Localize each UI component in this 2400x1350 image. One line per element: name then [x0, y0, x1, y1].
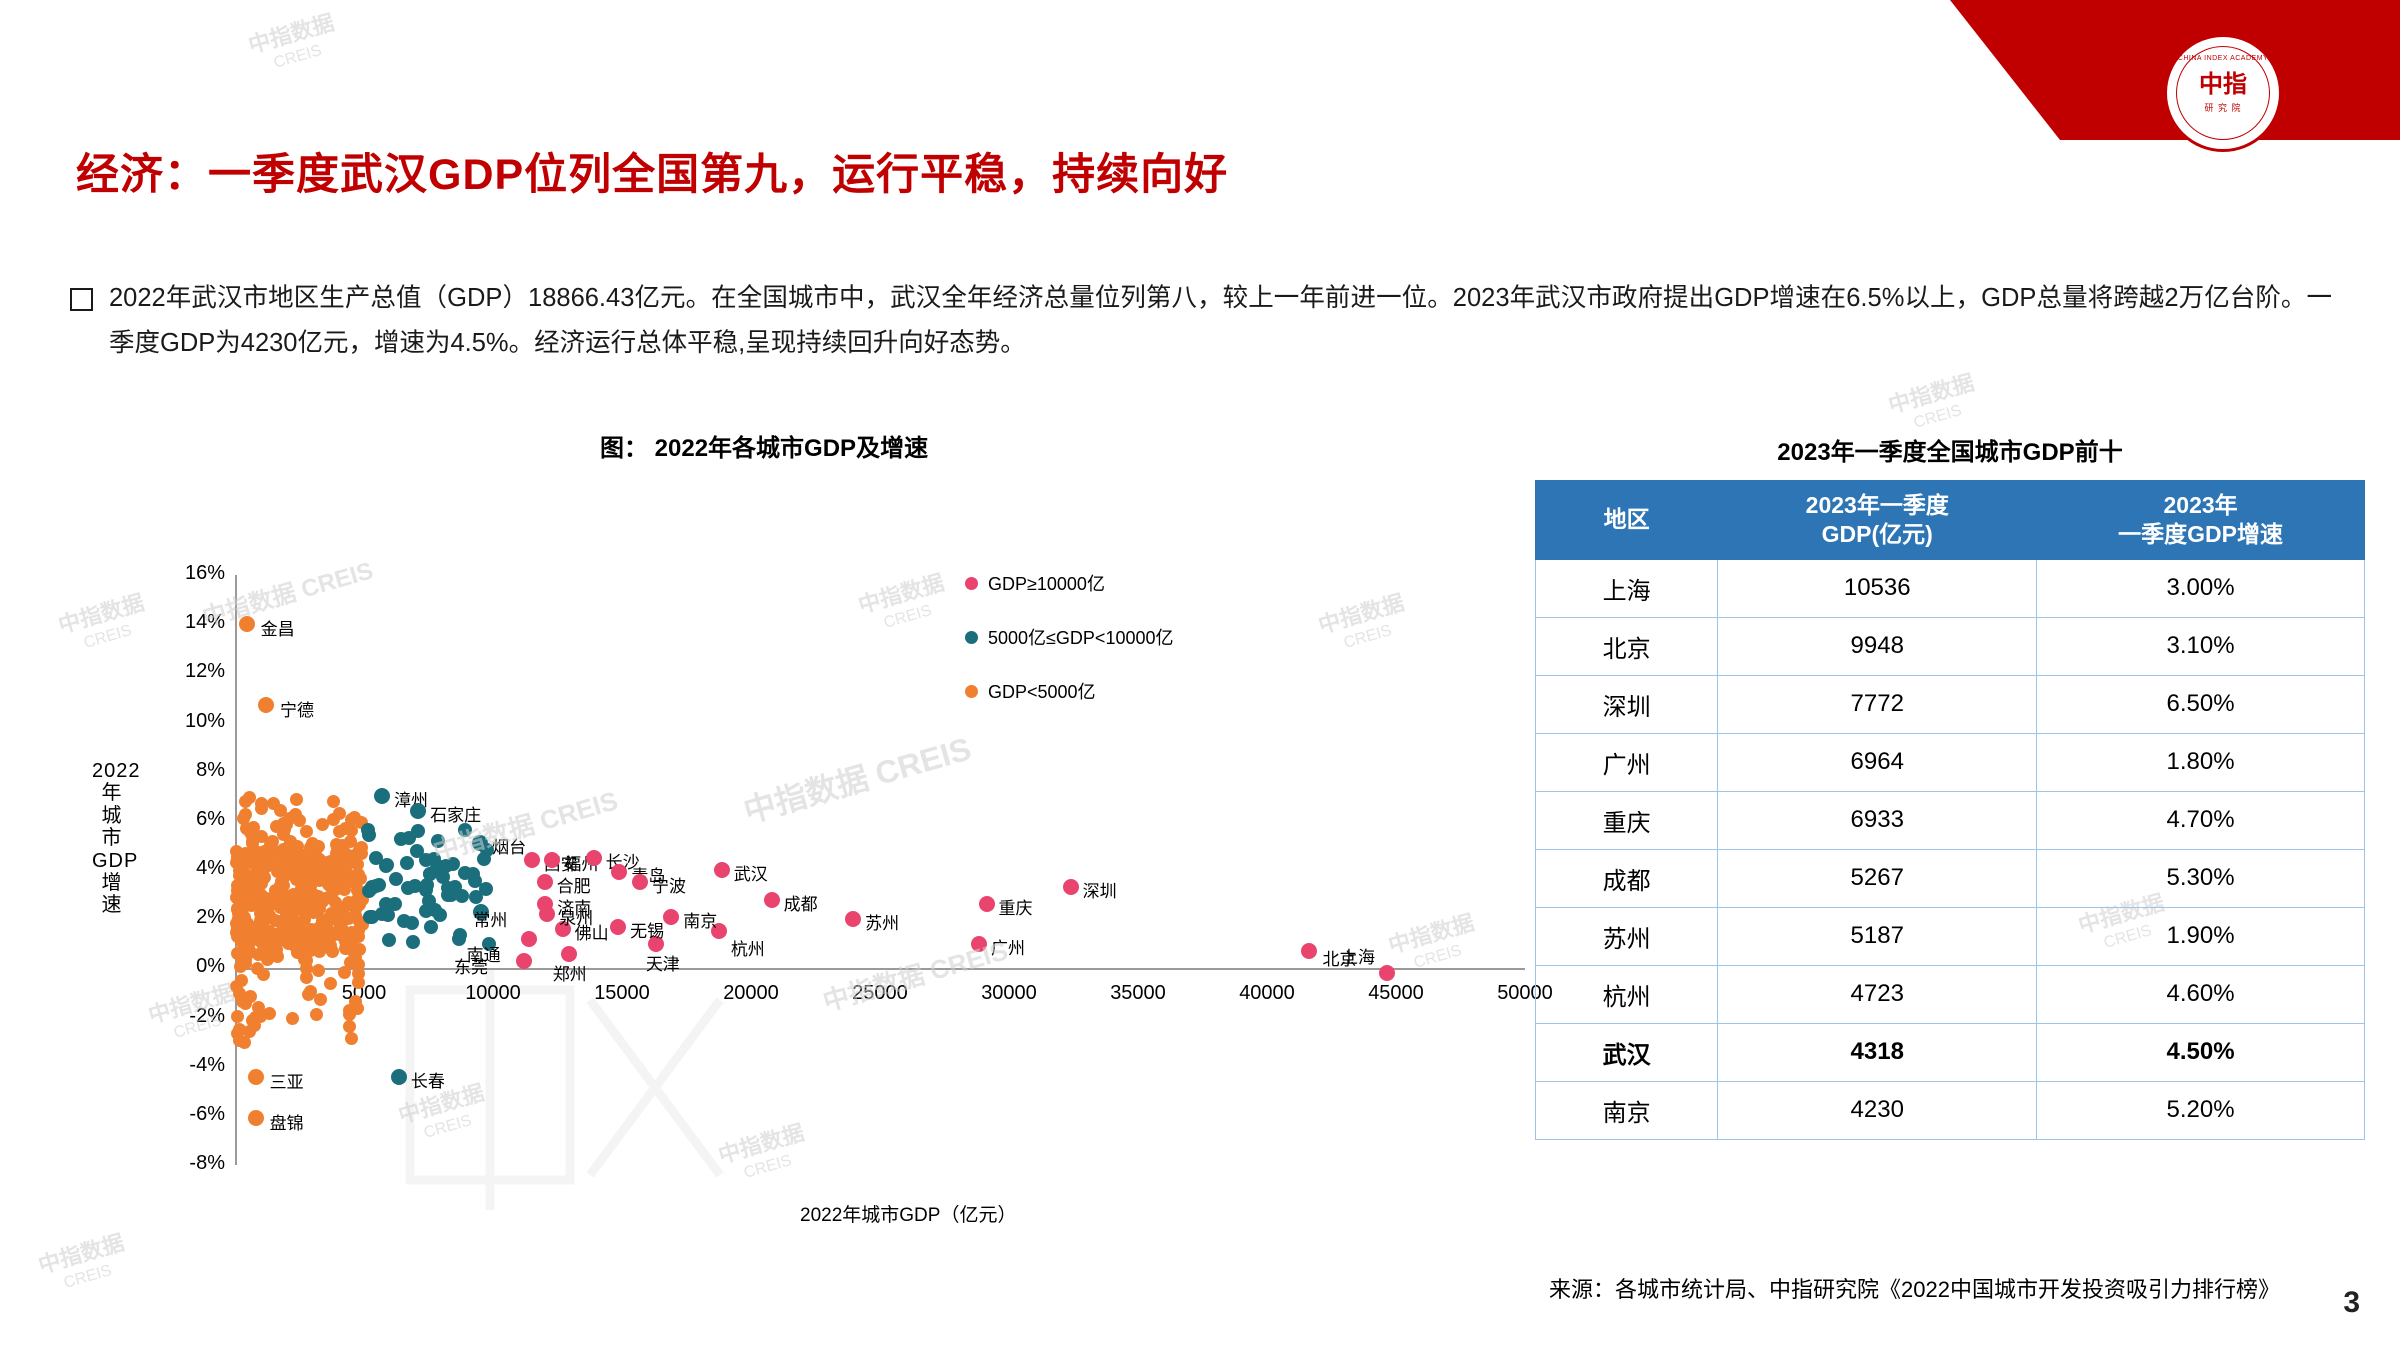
- y-axis-label: 2022年城市GDP增速: [92, 760, 132, 917]
- table-cell-region: 杭州: [1536, 965, 1718, 1023]
- table-cell-region: 武汉: [1536, 1023, 1718, 1081]
- data-point-三亚: [248, 1069, 264, 1085]
- table-cell-gdp: 4318: [1718, 1023, 2037, 1081]
- data-point-small-gdp: [323, 911, 336, 924]
- data-point-small-gdp: [289, 940, 302, 953]
- table-row: 杭州47234.60%: [1536, 965, 2365, 1023]
- page-title: 经济：一季度武汉GDP位列全国第九，运行平稳，持续向好: [76, 140, 1228, 202]
- data-point-small-gdp: [261, 854, 274, 867]
- data-point-small-gdp: [234, 960, 247, 973]
- watermark: 中指数据CREIS: [245, 9, 343, 79]
- y-axis-tick: 4%: [163, 857, 225, 880]
- data-point-北京: [1301, 943, 1317, 959]
- x-axis-tick: 30000: [964, 982, 1054, 1005]
- data-point-长沙: [586, 850, 602, 866]
- point-label-济南: 济南: [557, 894, 591, 919]
- legend-label: 5000亿≤GDP<10000亿: [988, 624, 1174, 650]
- data-point-mid-gdp: [365, 910, 379, 924]
- gdp-top10-table: 地区 2023年一季度GDP(亿元) 2023年一季度GDP增速 上海10536…: [1535, 480, 2365, 1140]
- y-axis-tick: -4%: [163, 1054, 225, 1077]
- table-title: 2023年一季度全国城市GDP前十: [1600, 432, 2300, 467]
- data-point-small-gdp: [231, 930, 244, 943]
- table-row: 成都52675.30%: [1536, 849, 2365, 907]
- table-cell-gdp: 6964: [1718, 733, 2037, 791]
- table-cell-growth: 3.10%: [2037, 617, 2365, 675]
- point-label-东莞: 东莞: [454, 953, 488, 978]
- point-label-广州: 广州: [991, 934, 1025, 959]
- point-label-郑州: 郑州: [553, 960, 587, 985]
- chart-caption: 图： 2022年各城市GDP及增速: [600, 428, 928, 463]
- table-row: 苏州51871.90%: [1536, 907, 2365, 965]
- table-row: 广州69641.80%: [1536, 733, 2365, 791]
- point-label-长春: 长春: [411, 1067, 445, 1092]
- y-axis-tick: -2%: [163, 1005, 225, 1028]
- table-header-row: 地区 2023年一季度GDP(亿元) 2023年一季度GDP增速: [1536, 481, 2365, 560]
- x-axis-tick: 15000: [577, 982, 667, 1005]
- y-axis-tick: 12%: [163, 660, 225, 683]
- data-point-small-gdp: [277, 865, 290, 878]
- table-body: 上海105363.00%北京99483.10%深圳77726.50%广州6964…: [1536, 559, 2365, 1139]
- table-cell-region: 北京: [1536, 617, 1718, 675]
- legend-color-swatch: [965, 685, 978, 698]
- table-row: 南京42305.20%: [1536, 1081, 2365, 1139]
- data-point-small-gdp: [251, 962, 264, 975]
- point-label-深圳: 深圳: [1083, 877, 1117, 902]
- table-cell-region: 深圳: [1536, 675, 1718, 733]
- table-header-gdp: 2023年一季度GDP(亿元): [1718, 481, 2037, 560]
- table-cell-gdp: 5187: [1718, 907, 2037, 965]
- table-cell-gdp: 4723: [1718, 965, 2037, 1023]
- x-axis-tick: 10000: [448, 982, 538, 1005]
- chart-legend: GDP≥10000亿 5000亿≤GDP<10000亿 GDP<5000亿: [965, 570, 1174, 732]
- logo-subtitle: 研 究 院: [2204, 101, 2241, 114]
- table-cell-growth: 4.60%: [2037, 965, 2365, 1023]
- point-label-上海: 上海: [1341, 943, 1375, 968]
- data-point-mid-gdp: [419, 883, 433, 897]
- table-cell-gdp: 5267: [1718, 849, 2037, 907]
- table-row: 重庆69334.70%: [1536, 791, 2365, 849]
- legend-label: GDP<5000亿: [988, 678, 1096, 704]
- data-point-small-gdp: [242, 886, 255, 899]
- table-cell-growth: 5.30%: [2037, 849, 2365, 907]
- y-axis-tick: 2%: [163, 906, 225, 929]
- data-point-金昌: [239, 616, 255, 632]
- y-axis-tick: 8%: [163, 759, 225, 782]
- bullet-paragraph: 2022年武汉市地区生产总值（GDP）18866.43亿元。在全国城市中，武汉全…: [70, 276, 2332, 365]
- table-header-growth: 2023年一季度GDP增速: [2037, 481, 2365, 560]
- point-label-烟台: 烟台: [492, 833, 526, 858]
- data-point-重庆: [979, 896, 995, 912]
- data-point-mid-gdp: [401, 881, 415, 895]
- data-point-mid-gdp: [428, 903, 442, 917]
- data-point-mid-gdp: [439, 859, 453, 873]
- data-point-mid-gdp: [479, 882, 493, 896]
- point-label-武汉: 武汉: [734, 860, 768, 885]
- data-point-广州: [971, 936, 987, 952]
- data-point-small-gdp: [273, 934, 286, 947]
- y-axis-tick: 16%: [163, 562, 225, 585]
- data-point-mid-gdp: [400, 856, 414, 870]
- table-cell-gdp: 7772: [1718, 675, 2037, 733]
- point-label-成都: 成都: [784, 890, 818, 915]
- data-point-small-gdp: [293, 924, 306, 937]
- y-axis-tick: 14%: [163, 611, 225, 634]
- point-label-三亚: 三亚: [270, 1068, 304, 1093]
- data-point-成都: [764, 892, 780, 908]
- legend-item-1: 5000亿≤GDP<10000亿: [965, 624, 1174, 650]
- point-label-天津: 天津: [646, 950, 680, 975]
- page-number: 3: [2343, 1286, 2360, 1320]
- x-axis-tick: 40000: [1222, 982, 1312, 1005]
- point-label-宁波: 宁波: [652, 872, 686, 897]
- legend-color-swatch: [965, 631, 978, 644]
- data-point-small-gdp: [327, 813, 340, 826]
- data-point-small-gdp: [352, 967, 365, 980]
- y-axis-tick: 6%: [163, 808, 225, 831]
- table-cell-growth: 6.50%: [2037, 675, 2365, 733]
- table-cell-region: 重庆: [1536, 791, 1718, 849]
- data-point-small-gdp: [310, 1008, 323, 1021]
- data-point-small-gdp: [231, 1010, 244, 1023]
- table-header-region: 地区: [1536, 481, 1718, 560]
- point-label-盘锦: 盘锦: [270, 1109, 304, 1134]
- data-point-mid-gdp: [452, 932, 466, 946]
- table-cell-gdp: 9948: [1718, 617, 2037, 675]
- table-cell-growth: 1.90%: [2037, 907, 2365, 965]
- data-point-盘锦: [248, 1110, 264, 1126]
- data-point-small-gdp: [307, 865, 320, 878]
- point-label-金昌: 金昌: [261, 615, 295, 640]
- data-point-small-gdp: [304, 880, 317, 893]
- table-cell-growth: 1.80%: [2037, 733, 2365, 791]
- data-point-small-gdp: [312, 964, 325, 977]
- data-point-small-gdp: [344, 956, 357, 969]
- data-point-small-gdp: [326, 870, 339, 883]
- data-point-small-gdp: [237, 812, 250, 825]
- data-point-small-gdp: [266, 835, 279, 848]
- x-axis-label: 2022年城市GDP（亿元）: [800, 1200, 1016, 1227]
- data-point-武汉: [714, 862, 730, 878]
- logo-english-text: CHINA INDEX ACADEMY: [2177, 55, 2269, 62]
- data-point-mid-gdp: [424, 920, 438, 934]
- y-axis-tick: -6%: [163, 1103, 225, 1126]
- data-point-small-gdp: [334, 901, 347, 914]
- point-label-石家庄: 石家庄: [430, 801, 481, 826]
- table-row: 上海105363.00%: [1536, 559, 2365, 617]
- data-point-small-gdp: [304, 944, 317, 957]
- legend-item-2: GDP<5000亿: [965, 678, 1174, 704]
- data-point-mid-gdp: [455, 889, 469, 903]
- data-point-small-gdp: [350, 894, 363, 907]
- data-point-mid-gdp: [382, 933, 396, 947]
- data-point-small-gdp: [246, 897, 259, 910]
- x-axis-tick: 35000: [1093, 982, 1183, 1005]
- data-point-small-gdp: [255, 802, 268, 815]
- bullet-text: 2022年武汉市地区生产总值（GDP）18866.43亿元。在全国城市中，武汉全…: [109, 276, 2332, 365]
- x-axis-tick: 45000: [1351, 982, 1441, 1005]
- gdp-scatter-chart: 2022年城市GDP增速 2022年城市GDP（亿元） GDP≥10000亿 5…: [60, 560, 1510, 1220]
- table-row: 武汉43184.50%: [1536, 1023, 2365, 1081]
- table-row: 北京99483.10%: [1536, 617, 2365, 675]
- data-point-small-gdp: [236, 866, 249, 879]
- watermark: 中指数据CREIS: [35, 1229, 133, 1299]
- data-point-mid-gdp: [361, 823, 375, 837]
- x-axis-tick: 20000: [706, 982, 796, 1005]
- table-cell-growth: 4.50%: [2037, 1023, 2365, 1081]
- table-cell-region: 上海: [1536, 559, 1718, 617]
- data-point-small-gdp: [348, 811, 361, 824]
- table-cell-region: 广州: [1536, 733, 1718, 791]
- table-cell-growth: 4.70%: [2037, 791, 2365, 849]
- data-point-small-gdp: [300, 971, 313, 984]
- table-cell-region: 南京: [1536, 1081, 1718, 1139]
- x-axis-tick: 25000: [835, 982, 925, 1005]
- table-cell-growth: 3.00%: [2037, 559, 2365, 617]
- data-point-small-gdp: [243, 791, 256, 804]
- data-point-深圳: [1063, 879, 1079, 895]
- company-logo: CHINA INDEX ACADEMY 中指 研 究 院: [2164, 34, 2282, 152]
- data-point-南通: [521, 931, 537, 947]
- data-point-长春: [391, 1069, 407, 1085]
- data-point-mid-gdp: [362, 884, 376, 898]
- y-axis-tick: -8%: [163, 1152, 225, 1175]
- y-axis-tick: 0%: [163, 955, 225, 978]
- table-cell-gdp: 4230: [1718, 1081, 2037, 1139]
- bullet-square-icon: [70, 288, 93, 311]
- data-point-small-gdp: [321, 856, 334, 869]
- table-cell-gdp: 10536: [1718, 559, 2037, 617]
- table-cell-region: 成都: [1536, 849, 1718, 907]
- data-point-small-gdp: [247, 851, 260, 864]
- data-point-mid-gdp: [431, 834, 445, 848]
- watermark: 中指数据CREIS: [1885, 369, 1983, 439]
- table-cell-gdp: 6933: [1718, 791, 2037, 849]
- data-point-small-gdp: [286, 1012, 299, 1025]
- point-label-杭州: 杭州: [731, 935, 765, 960]
- point-label-宁德: 宁德: [280, 696, 314, 721]
- y-axis-tick: 10%: [163, 710, 225, 733]
- point-label-南京: 南京: [683, 907, 717, 932]
- data-point-合肥: [537, 874, 553, 890]
- data-point-东莞: [516, 953, 532, 969]
- logo-chinese-text: 中指: [2199, 73, 2247, 97]
- data-point-small-gdp: [230, 917, 243, 930]
- table-cell-growth: 5.20%: [2037, 1081, 2365, 1139]
- data-point-无锡: [610, 919, 626, 935]
- table-cell-region: 苏州: [1536, 907, 1718, 965]
- legend-item-0: GDP≥10000亿: [965, 570, 1174, 596]
- legend-label: GDP≥10000亿: [988, 570, 1105, 596]
- point-label-苏州: 苏州: [865, 909, 899, 934]
- source-note: 来源：各城市统计局、中指研究院《2022中国城市开发投资吸引力排行榜》: [1549, 1272, 2280, 1304]
- legend-color-swatch: [965, 577, 978, 590]
- point-label-常州: 常州: [473, 906, 507, 931]
- data-point-南京: [663, 909, 679, 925]
- point-label-重庆: 重庆: [999, 894, 1033, 919]
- point-label-无锡: 无锡: [630, 917, 664, 942]
- data-point-烟台: [472, 835, 488, 851]
- data-point-small-gdp: [297, 849, 310, 862]
- table-row: 深圳77726.50%: [1536, 675, 2365, 733]
